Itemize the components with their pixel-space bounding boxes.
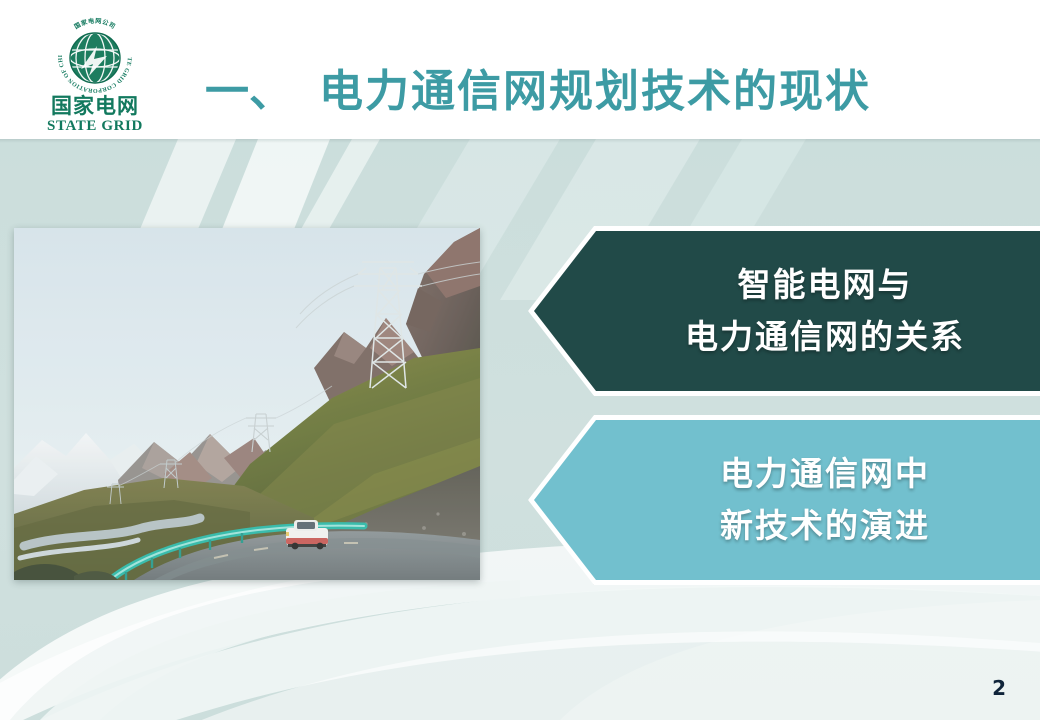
title-number: 一、: [205, 66, 319, 117]
presentation-slide: 国家电网公司 STATE GRID CORPORATION OF CHINA 国…: [0, 0, 1040, 720]
svg-text:国家电网公司: 国家电网公司: [73, 17, 117, 31]
banner-new-tech[interactable]: 电力通信网中 新技术的演进: [534, 420, 1040, 580]
banner-smart-grid[interactable]: 智能电网与 电力通信网的关系: [534, 231, 1040, 391]
slide-header: 国家电网公司 STATE GRID CORPORATION OF CHINA 国…: [0, 0, 1040, 139]
logo-name-cn: 国家电网: [35, 94, 155, 118]
banner-new-tech-line1: 电力通信网中: [720, 448, 930, 500]
page-title: 一、电力通信网规划技术的现状: [205, 55, 871, 119]
logo-name-en: STATE GRID: [35, 118, 155, 134]
title-text: 电力通信网规划技术的现状: [319, 66, 871, 117]
banner-smart-grid-line1: 智能电网与: [738, 259, 913, 311]
page-number: 2: [992, 676, 1006, 700]
mountain-road-photo: [14, 228, 480, 580]
banner-new-tech-line2: 新技术的演进: [720, 500, 930, 552]
banner-smart-grid-line2: 电力通信网的关系: [685, 311, 965, 363]
state-grid-globe-emblem: 国家电网公司 STATE GRID CORPORATION OF CHINA: [53, 14, 137, 98]
state-grid-logo: 国家电网公司 STATE GRID CORPORATION OF CHINA 国…: [35, 14, 155, 132]
header-divider: [0, 139, 1040, 143]
photo-illustration: [14, 228, 480, 580]
